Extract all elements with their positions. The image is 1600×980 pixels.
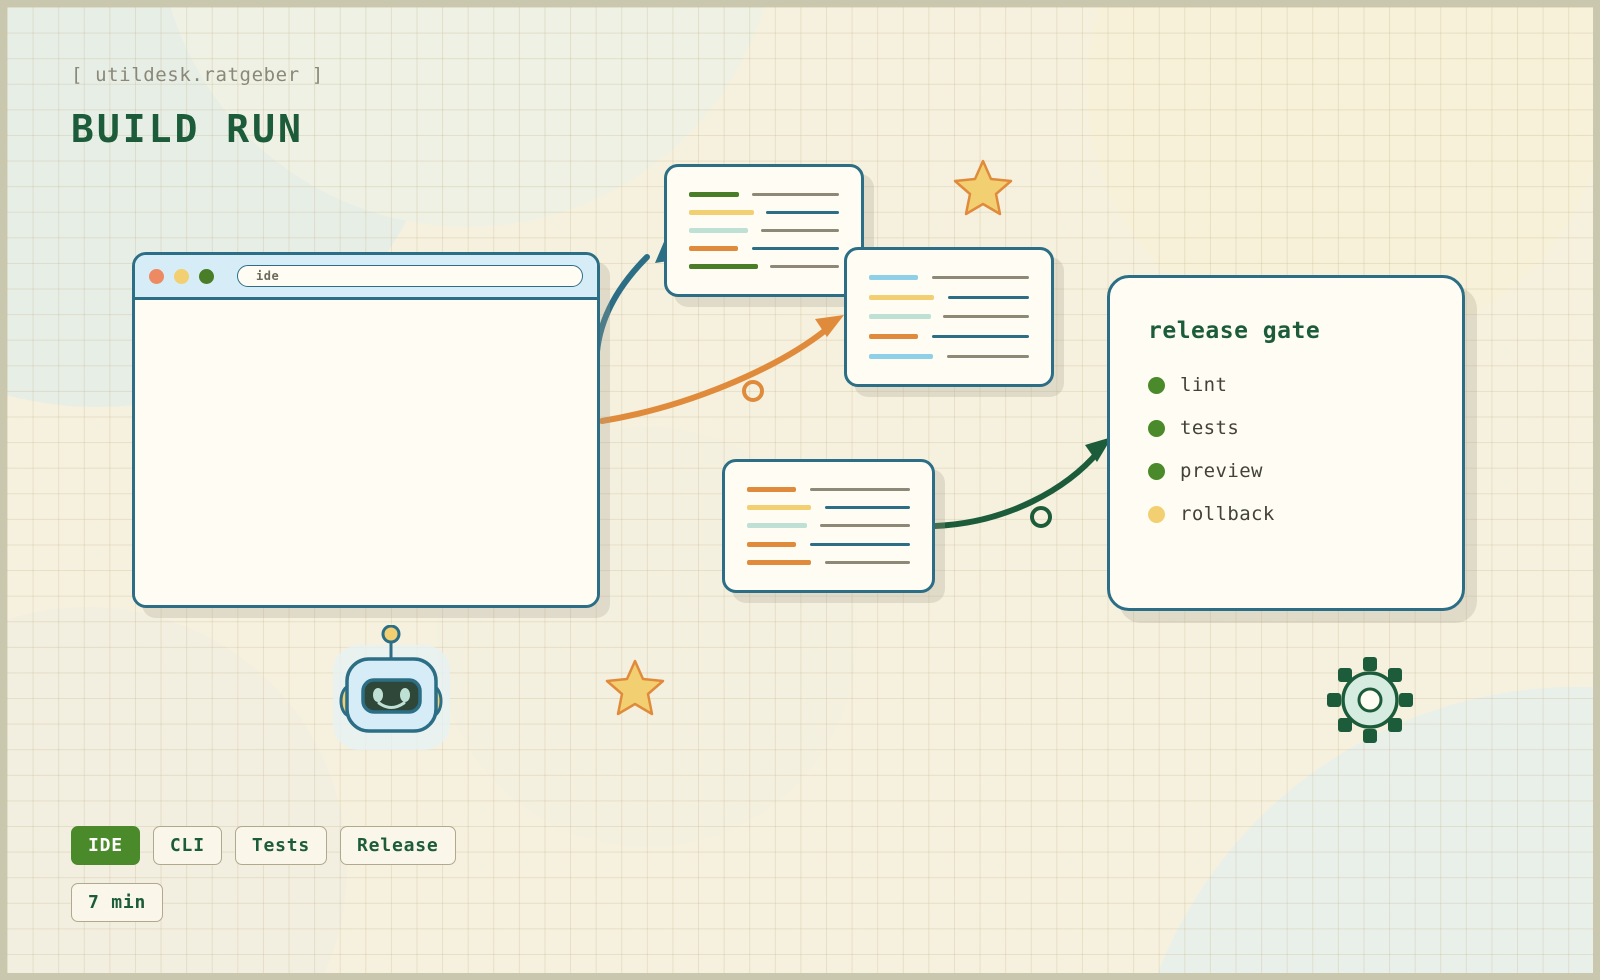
code-line-token (869, 354, 933, 359)
code-line-token (825, 506, 910, 509)
code-line-token (770, 265, 839, 268)
arrow-ide-to-code-middle (602, 315, 844, 421)
code-line-token (943, 315, 1029, 318)
release-gate-list: linttestspreviewrollback (1148, 374, 1462, 525)
code-card-middle[interactable] (844, 247, 1054, 387)
release-gate-item[interactable]: rollback (1148, 503, 1462, 525)
ide-window[interactable]: ide (132, 252, 600, 608)
gear-icon (1325, 655, 1415, 745)
canvas: [ utildesk.ratgeber ] BUILD RUN (0, 0, 1600, 980)
code-line-token (747, 505, 811, 510)
release-gate-title: release gate (1148, 318, 1462, 344)
status-badge (1148, 420, 1165, 437)
filter-chip-tests[interactable]: Tests (235, 826, 327, 865)
code-line-token (869, 295, 934, 300)
code-line-token (752, 247, 839, 250)
code-line (747, 505, 910, 510)
star-icon (955, 161, 1011, 214)
code-line (689, 210, 839, 215)
filter-chip-ide[interactable]: IDE (71, 826, 140, 865)
arrow-code-to-release-gate (935, 437, 1112, 526)
code-line (689, 264, 839, 269)
filter-chip-cli[interactable]: CLI (153, 826, 222, 865)
code-line (869, 295, 1029, 300)
star-icon (607, 661, 663, 714)
code-card-bottom[interactable] (722, 459, 935, 593)
code-line-token (761, 229, 839, 232)
release-gate-item[interactable]: tests (1148, 417, 1462, 439)
maximize-icon[interactable] (199, 269, 214, 284)
close-icon[interactable] (149, 269, 164, 284)
release-gate-item-label: rollback (1180, 503, 1275, 525)
code-line (747, 542, 910, 547)
code-line (869, 334, 1029, 339)
code-line-token (747, 560, 811, 565)
filter-chip-release[interactable]: Release (340, 826, 455, 865)
release-gate-item[interactable]: lint (1148, 374, 1462, 396)
status-badge (1148, 377, 1165, 394)
code-line-token (752, 193, 840, 196)
code-line-token (869, 275, 918, 280)
code-line (869, 275, 1029, 280)
code-line-token (766, 211, 839, 214)
code-line (689, 246, 839, 251)
code-line-token (747, 487, 796, 492)
ide-editor-area[interactable] (135, 300, 597, 608)
status-badge (1148, 506, 1165, 523)
code-line-token (689, 228, 748, 233)
code-line-token (947, 355, 1029, 358)
url-input[interactable]: ide (237, 265, 583, 287)
code-line-token (869, 314, 931, 319)
code-line (747, 560, 910, 565)
release-gate-item[interactable]: preview (1148, 460, 1462, 482)
code-line-token (689, 246, 738, 251)
code-line (869, 354, 1029, 359)
release-gate-item-label: tests (1180, 417, 1239, 439)
code-line-token (948, 296, 1029, 299)
ide-titlebar: ide (135, 255, 597, 300)
release-gate-panel: release gate linttestspreviewrollback (1107, 275, 1465, 611)
code-line (747, 523, 910, 528)
code-line-token (820, 524, 910, 527)
code-line-token (932, 276, 1029, 279)
code-line (689, 192, 839, 197)
code-line-token (869, 334, 918, 339)
code-line (869, 314, 1029, 319)
code-card-top[interactable] (664, 164, 864, 297)
code-line-token (747, 542, 796, 547)
code-line (747, 487, 910, 492)
duration-badge: 7 min (71, 883, 163, 922)
filter-chip-group: IDECLITestsRelease (71, 826, 456, 865)
code-line-token (932, 335, 1029, 338)
code-line-token (689, 192, 739, 197)
code-line-token (747, 523, 807, 528)
code-line-token (810, 488, 910, 491)
code-line-token (689, 264, 758, 269)
robot-icon (325, 625, 458, 750)
status-badge (1148, 463, 1165, 480)
code-line-token (825, 561, 910, 564)
release-gate-item-label: preview (1180, 460, 1263, 482)
minimize-icon[interactable] (174, 269, 189, 284)
release-gate-item-label: lint (1180, 374, 1227, 396)
code-line-token (810, 543, 910, 546)
code-line-token (689, 210, 754, 215)
code-line (689, 228, 839, 233)
